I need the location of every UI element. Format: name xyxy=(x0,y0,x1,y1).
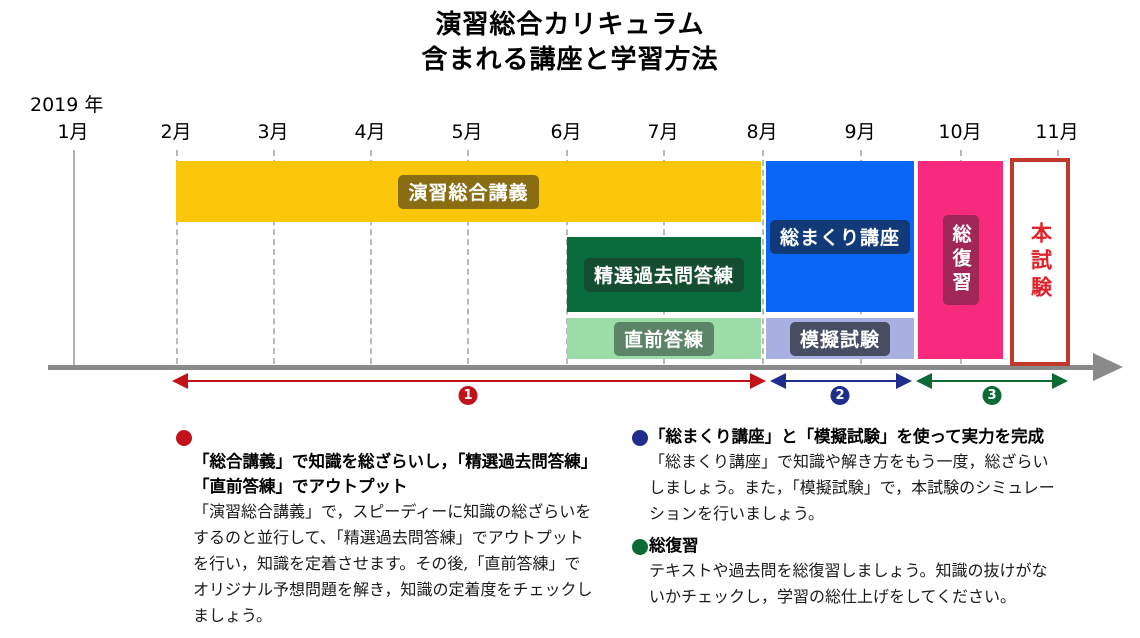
phase-3-arrow-left-icon xyxy=(916,373,932,389)
timeline-axis-arrow-icon xyxy=(1093,353,1123,381)
month-label-1: 1月 xyxy=(57,117,88,144)
legend-2-heading: 2「総まくり講座」と「模擬試験」を使って実力を完成 xyxy=(632,424,1062,449)
bar-label-seisen-kakomon-toren: 精選過去問答練 xyxy=(584,258,744,292)
month-label-11: 11月 xyxy=(1035,117,1078,144)
phase-2-badge: 2 xyxy=(831,386,850,405)
bar-chokuzen-toren[interactable]: 直前答練 xyxy=(567,318,761,359)
gridline-month-1 xyxy=(73,150,75,368)
legend-item-1: 1「総合講義」で知識を総ざらいし，「精選過去問答練」 「直前答練」でアウトプット… xyxy=(176,424,596,629)
legend-3-badge: 3 xyxy=(632,539,648,555)
timeline-axis xyxy=(48,365,1103,370)
phase-1-arrow-left-icon xyxy=(172,373,188,389)
legend-2-badge: 2 xyxy=(632,430,648,446)
legend-3-heading: 3総復習 xyxy=(632,533,1062,558)
phase-2-arrow-right-icon xyxy=(896,373,912,389)
phase-1-badge: 1 xyxy=(459,386,478,405)
month-label-4: 4月 xyxy=(354,117,385,144)
bar-label-so-fukushu: 総復習 xyxy=(943,215,979,305)
legend-1-heading-line-2: 「直前答練」でアウトプット xyxy=(176,474,596,499)
month-label-9: 9月 xyxy=(844,117,875,144)
bar-label-chokuzen-toren: 直前答練 xyxy=(614,322,714,356)
bar-hon-shiken[interactable]: 本試験 xyxy=(1010,158,1070,366)
month-label-10: 10月 xyxy=(938,117,981,144)
year-label: 2019 年 xyxy=(30,90,103,117)
month-label-8: 8月 xyxy=(746,117,777,144)
legend-3-heading-line-1: 総復習 xyxy=(649,536,699,555)
phase-2-arrow-line xyxy=(784,380,898,382)
bar-so-fukushu[interactable]: 総復習 xyxy=(918,161,1003,359)
bar-mogi-shiken[interactable]: 模擬試験 xyxy=(766,318,914,359)
gridline-month-8 xyxy=(762,150,764,364)
title-line-2: 含まれる講座と学習方法 xyxy=(0,43,1140,78)
bar-enshu-sogo-kogi[interactable]: 演習総合講義 xyxy=(176,161,761,222)
legend-item-2: 2「総まくり講座」と「模擬試験」を使って実力を完成 「総まくり講座」で知識や解き… xyxy=(632,424,1062,527)
phase-1-arrow-line xyxy=(186,380,752,382)
page-title: 演習総合カリキュラム 含まれる講座と学習方法 xyxy=(0,8,1140,78)
legend-left-column: 1「総合講義」で知識を総ざらいし，「精選過去問答練」 「直前答練」でアウトプット… xyxy=(176,424,596,633)
month-label-7: 7月 xyxy=(647,117,678,144)
legend-1-body: 「演習総合講義」で，スピーディーに知識の総ざらいをするのと並行して、「精選過去問… xyxy=(176,499,596,629)
bar-somakuri-koza[interactable]: 総まくり講座 xyxy=(766,161,914,312)
bar-label-hon-shiken: 本試験 xyxy=(1021,213,1060,312)
month-label-5: 5月 xyxy=(451,117,482,144)
legend-1-badge: 1 xyxy=(176,430,192,446)
bar-label-enshu-sogo-kogi: 演習総合講義 xyxy=(398,175,538,209)
legend-item-3: 3総復習 テキストや過去問を総復習しましょう。知識の抜けがないかチェックし，学習… xyxy=(632,533,1062,610)
legend-2-heading-line-1: 「総まくり講座」と「模擬試験」を使って実力を完成 xyxy=(649,427,1044,446)
legend-2-body: 「総まくり講座」で知識や解き方をもう一度，総ざらいしましょう。また，「模擬試験」… xyxy=(632,449,1062,527)
legend-1-heading-line-1: 「総合講義」で知識を総ざらいし，「精選過去問答練」 xyxy=(193,452,597,471)
month-label-3: 3月 xyxy=(257,117,288,144)
phase-2-arrow-left-icon xyxy=(770,373,786,389)
phase-3-arrow-line xyxy=(930,380,1054,382)
month-label-6: 6月 xyxy=(550,117,581,144)
phase-3-arrow-right-icon xyxy=(1052,373,1068,389)
phase-1-arrow-right-icon xyxy=(750,373,766,389)
bar-label-somakuri-koza: 総まくり講座 xyxy=(770,220,910,254)
phase-3-badge: 3 xyxy=(983,386,1002,405)
title-line-1: 演習総合カリキュラム xyxy=(0,8,1140,43)
bar-seisen-kakomon-toren[interactable]: 精選過去問答練 xyxy=(567,237,761,312)
bar-label-mogi-shiken: 模擬試験 xyxy=(790,322,890,356)
legend-1-heading: 1「総合講義」で知識を総ざらいし，「精選過去問答練」 xyxy=(176,424,596,474)
month-label-2: 2月 xyxy=(160,117,191,144)
legend-right-column: 2「総まくり講座」と「模擬試験」を使って実力を完成 「総まくり講座」で知識や解き… xyxy=(632,424,1062,614)
legend-3-body: テキストや過去問を総復習しましょう。知識の抜けがないかチェックし，学習の総仕上げ… xyxy=(632,558,1062,610)
